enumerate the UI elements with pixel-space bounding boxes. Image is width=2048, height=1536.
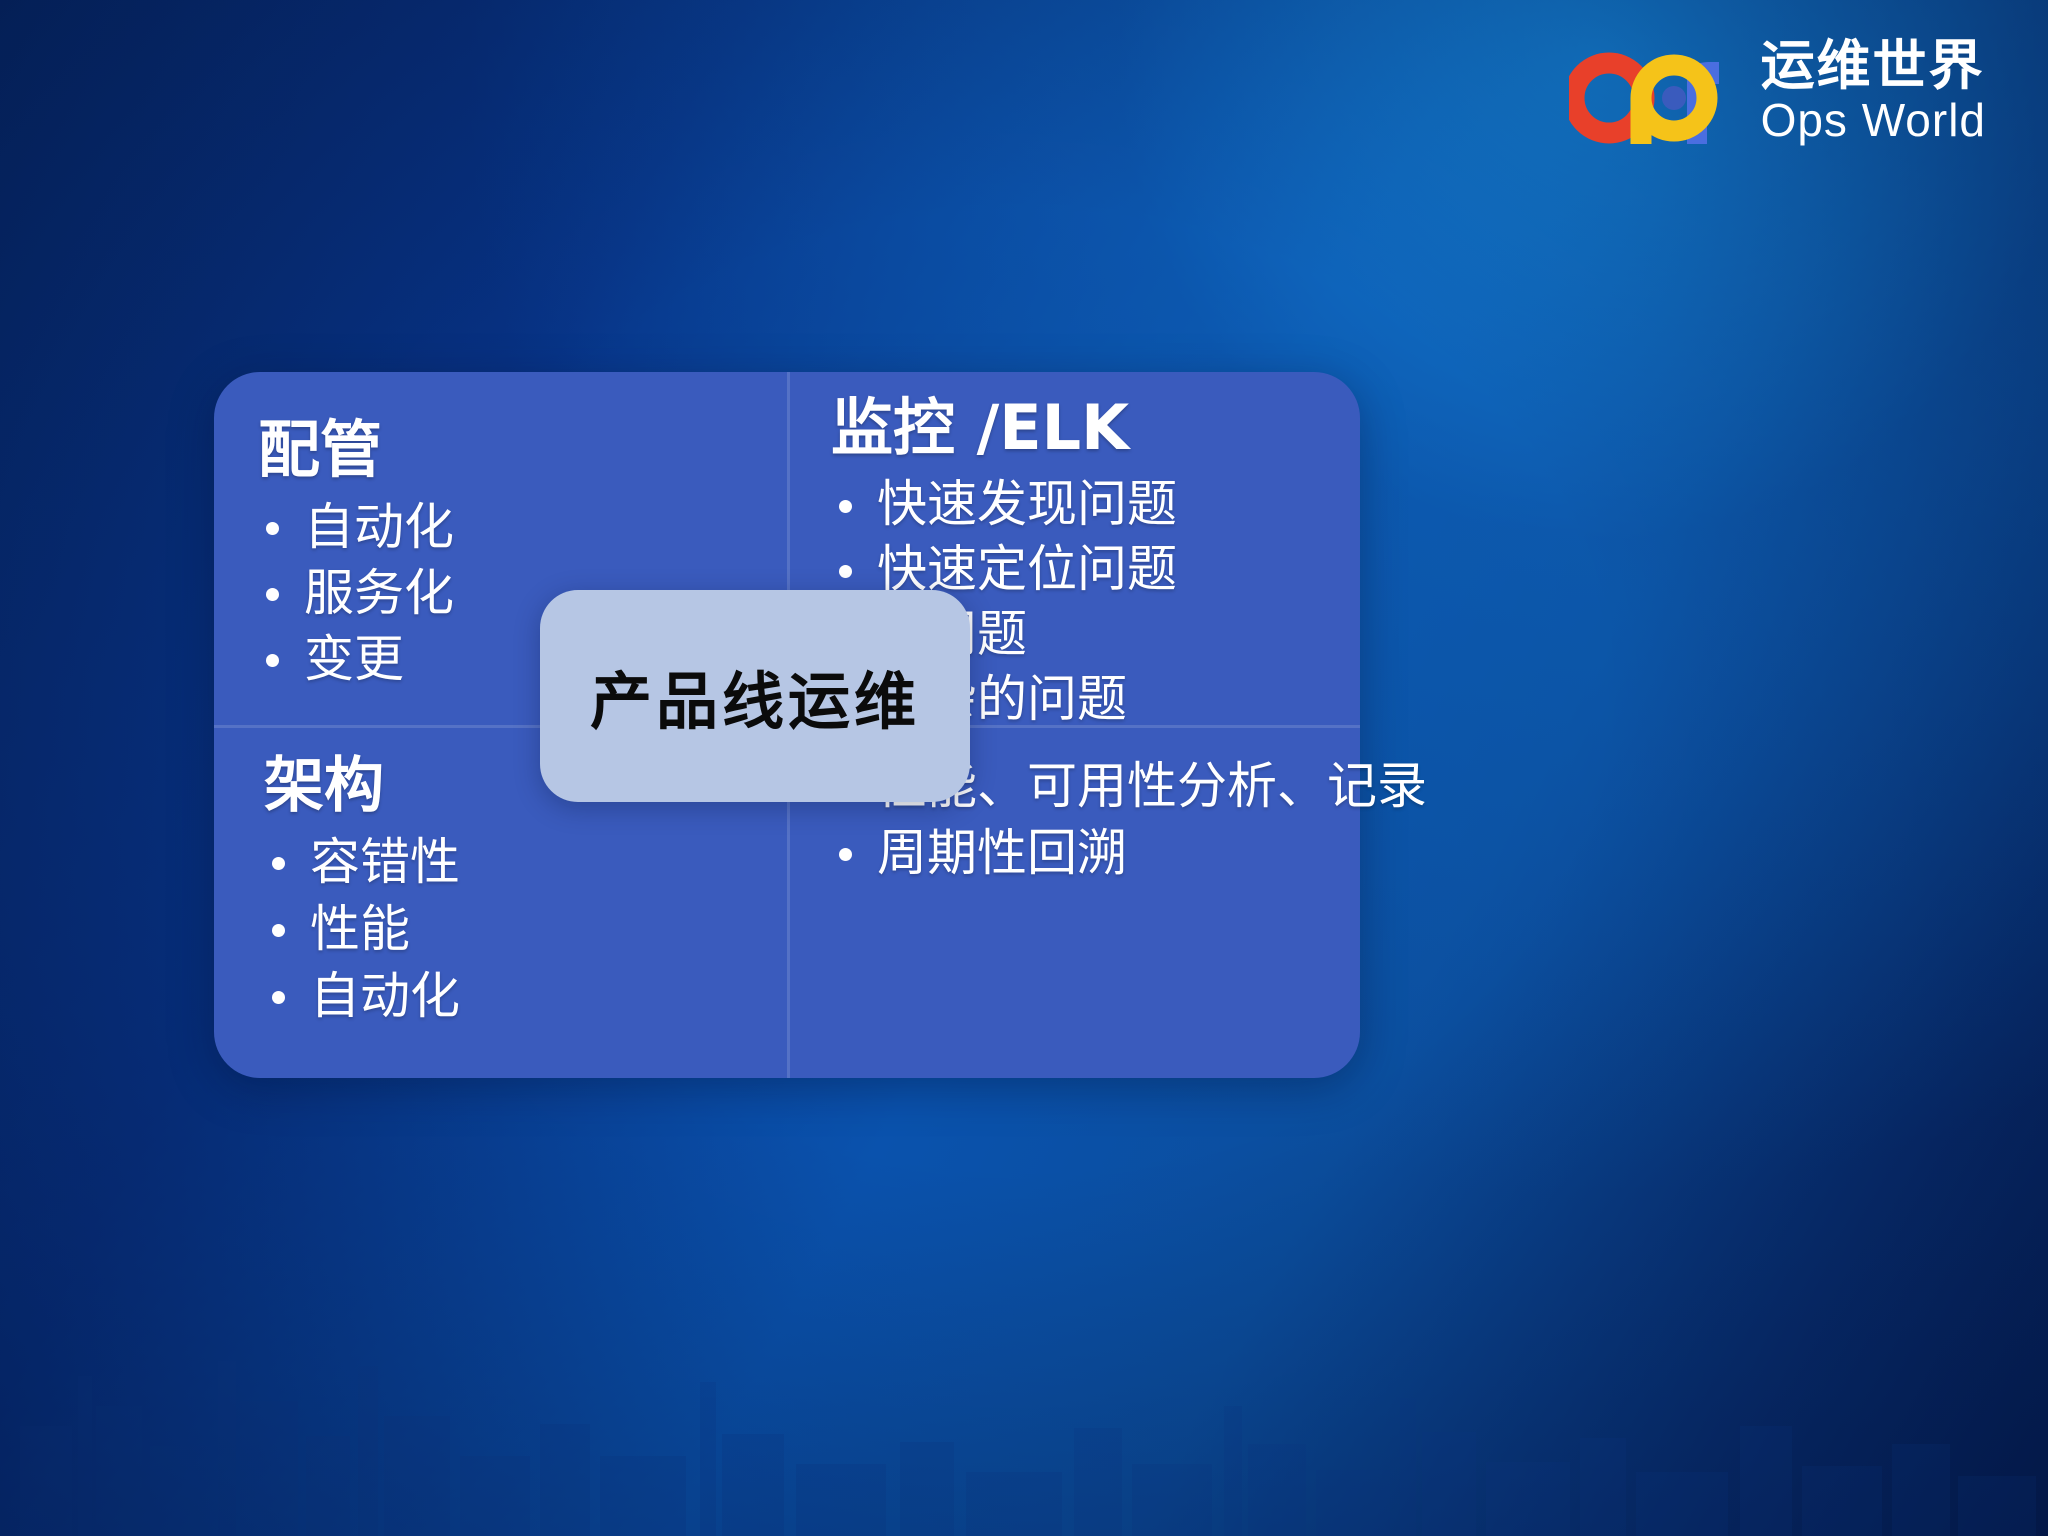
list-item: 周期性回溯 [831, 820, 1334, 887]
list-item: 容错性 [264, 829, 751, 896]
list-item: 自动化 [264, 963, 751, 1030]
list-item: 性能 [264, 896, 751, 963]
logo-wordmark: 运维世界 Ops World [1761, 39, 1986, 143]
logo-english-name: Ops World [1761, 97, 1986, 143]
quadrant-title-config-management: 配管 [258, 416, 751, 484]
slide-canvas: 运维世界 Ops World 配管 自动化 服务化 变更 监控 /ELK 快速发… [0, 0, 2048, 1536]
center-callout-text: 产品线运维 [590, 651, 920, 741]
logo-chinese-name: 运维世界 [1761, 39, 1986, 93]
center-callout-box: 产品线运维 [540, 590, 970, 802]
bullet-list-architecture: 容错性 性能 自动化 [264, 829, 751, 1030]
ops-world-logo: 运维世界 Ops World [1569, 32, 1986, 150]
quadrant-title-monitoring-elk: 监控 /ELK [831, 394, 1334, 462]
ops-logo-mark [1569, 36, 1739, 146]
list-item: 快速发现问题 [831, 472, 1334, 537]
list-item: 自动化 [258, 494, 751, 560]
city-skyline-decoration [0, 1306, 2048, 1536]
